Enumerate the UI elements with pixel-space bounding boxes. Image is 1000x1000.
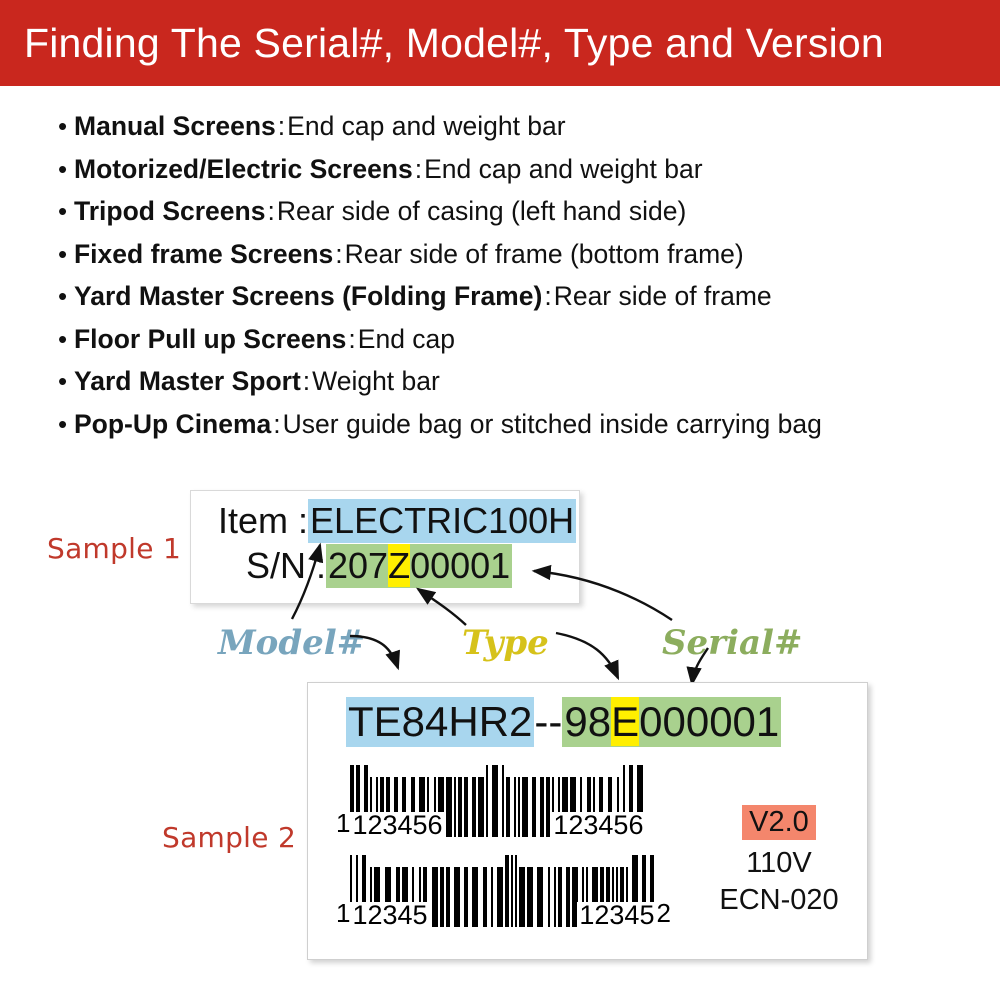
list-item-separator: : — [346, 324, 357, 355]
list-item-label: Yard Master Screens (Folding Frame) — [74, 281, 542, 312]
screen-type-list: •Manual Screens:End cap and weight bar•M… — [58, 111, 988, 451]
sample-2-model-code: TE84HR2 — [346, 697, 534, 747]
sample-2-ecn: ECN-020 — [704, 884, 854, 917]
list-item: •Manual Screens:End cap and weight bar — [58, 111, 988, 154]
bullet-dot-icon: • — [58, 326, 72, 352]
list-item-description: Rear side of frame — [554, 281, 772, 312]
barcode-lower-left-digit: 1 — [336, 900, 350, 927]
sample-1-sn-row: S/N : 207Z00001 — [246, 544, 512, 588]
list-item-label: Tripod Screens — [74, 196, 265, 227]
list-item: •Fixed frame Screens:Rear side of frame … — [58, 239, 988, 282]
bullet-dot-icon: • — [58, 156, 72, 182]
list-item-description: End cap and weight bar — [424, 154, 702, 185]
list-item-label: Manual Screens — [74, 111, 276, 142]
list-item: •Floor Pull up Screens:End cap — [58, 324, 988, 367]
bullet-dot-icon: • — [58, 368, 72, 394]
sample-2-info-column: V2.0 110V ECN-020 — [704, 805, 854, 917]
sample-2-label-card: TE84HR2--98E000001 1 123456 123456 1 123… — [307, 682, 868, 960]
barcode-lower-bars-icon: 12345 12345 — [350, 855, 656, 927]
sample-1-sn-type-char: Z — [388, 544, 410, 587]
annotation-label-serial: Serial# — [662, 623, 802, 663]
list-item-description: End cap — [358, 324, 455, 355]
list-item-separator: : — [542, 281, 553, 312]
sample-2-caption: Sample 2 — [162, 821, 296, 854]
header-banner: Finding The Serial#, Model#, Type and Ve… — [0, 0, 1000, 86]
barcode-upper-left-digit: 1 — [336, 810, 350, 837]
list-item-label: Pop-Up Cinema — [74, 409, 271, 440]
sample-2-version-value: V2.0 — [742, 805, 816, 840]
list-item-description: Weight bar — [312, 366, 440, 397]
list-item: •Yard Master Screens (Folding Frame):Rea… — [58, 281, 988, 324]
sample-2-voltage: 110V — [704, 847, 854, 880]
barcode-lower-right-digit: 2 — [656, 900, 670, 927]
sample-2-version-row: V2.0 — [704, 805, 854, 840]
sample-2-code-row: TE84HR2--98E000001 — [346, 697, 781, 747]
bullet-dot-icon: • — [58, 411, 72, 437]
list-item: •Yard Master Sport:Weight bar — [58, 366, 988, 409]
bullet-dot-icon: • — [58, 241, 72, 267]
barcode-lower: 1 12345 12345 2 — [336, 855, 671, 927]
sample-1-item-row: Item : ELECTRIC100H — [218, 499, 576, 543]
list-item-description: User guide bag or stitched inside carryi… — [283, 409, 822, 440]
list-item-separator: : — [265, 196, 276, 227]
bullet-dot-icon: • — [58, 198, 72, 224]
list-item-description: End cap and weight bar — [287, 111, 565, 142]
sample-2-serial-code: 98E000001 — [562, 697, 781, 747]
list-item-separator: : — [333, 239, 344, 270]
sample-1-item-label: Item : — [218, 500, 308, 542]
sample-1-sn-label: S/N : — [246, 545, 326, 587]
list-item: •Motorized/Electric Screens:End cap and … — [58, 154, 988, 197]
sample-1-sn-suffix: 00001 — [410, 545, 510, 586]
list-item: •Tripod Screens:Rear side of casing (lef… — [58, 196, 988, 239]
list-item-label: Yard Master Sport — [74, 366, 301, 397]
list-item-label: Motorized/Electric Screens — [74, 154, 413, 185]
list-item: •Pop-Up Cinema:User guide bag or stitche… — [58, 409, 988, 452]
list-item-description: Rear side of casing (left hand side) — [277, 196, 687, 227]
annotation-label-type: Type — [462, 623, 549, 663]
arrow-type-to-sample2-type — [556, 633, 618, 678]
sample-2-serial-suffix: 000001 — [639, 698, 779, 745]
barcode-upper: 1 123456 123456 — [336, 765, 645, 837]
annotation-label-model: Model# — [218, 623, 365, 663]
list-item-label: Fixed frame Screens — [74, 239, 333, 270]
list-item-separator: : — [413, 154, 424, 185]
list-item-separator: : — [271, 409, 282, 440]
sample-2-serial-prefix: 98 — [564, 698, 611, 745]
bullet-dot-icon: • — [58, 283, 72, 309]
bullet-dot-icon: • — [58, 113, 72, 139]
list-item-separator: : — [276, 111, 287, 142]
list-item-label: Floor Pull up Screens — [74, 324, 346, 355]
sample-1-sn-prefix: 207 — [328, 545, 388, 586]
sample-2-dashes: -- — [534, 697, 562, 747]
barcode-upper-bars-icon: 123456 123456 — [350, 765, 645, 837]
sample-1-label-card: Item : ELECTRIC100H S/N : 207Z00001 — [190, 490, 580, 604]
sample-2-type-char: E — [611, 697, 639, 746]
list-item-description: Rear side of frame (bottom frame) — [345, 239, 744, 270]
page-title: Finding The Serial#, Model#, Type and Ve… — [0, 20, 884, 67]
sample-1-sn-value: 207Z00001 — [326, 544, 512, 588]
sample-1-item-value: ELECTRIC100H — [308, 499, 576, 543]
sample-1-caption: Sample 1 — [47, 532, 181, 565]
list-item-separator: : — [301, 366, 312, 397]
